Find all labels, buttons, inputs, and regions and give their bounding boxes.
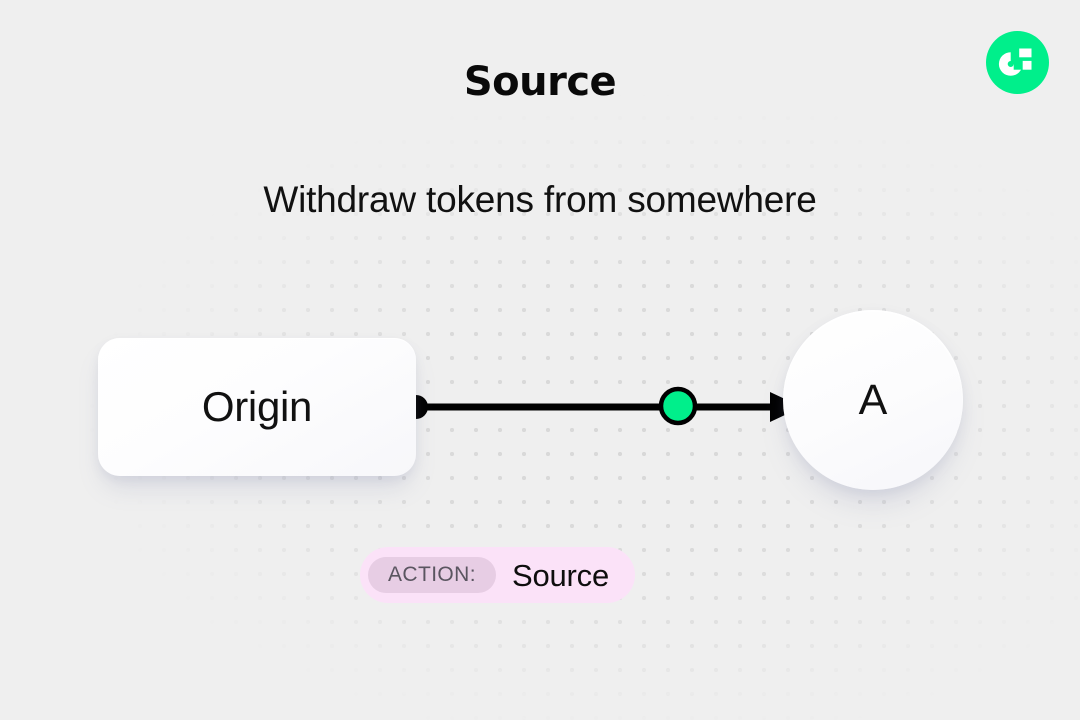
action-badge-value: Source	[512, 560, 609, 591]
diagram-canvas: Source Withdraw tokens from somewhere Or…	[0, 0, 1080, 720]
node-a[interactable]: A	[783, 310, 963, 490]
action-badge-key: ACTION:	[368, 557, 496, 593]
action-badge[interactable]: ACTION: Source	[360, 547, 635, 603]
node-a-label: A	[859, 379, 888, 422]
node-origin-label: Origin	[202, 386, 312, 428]
flow-graph: Origin A	[0, 0, 1080, 720]
node-origin[interactable]: Origin	[98, 338, 416, 476]
token-marker-dot[interactable]	[661, 389, 695, 423]
